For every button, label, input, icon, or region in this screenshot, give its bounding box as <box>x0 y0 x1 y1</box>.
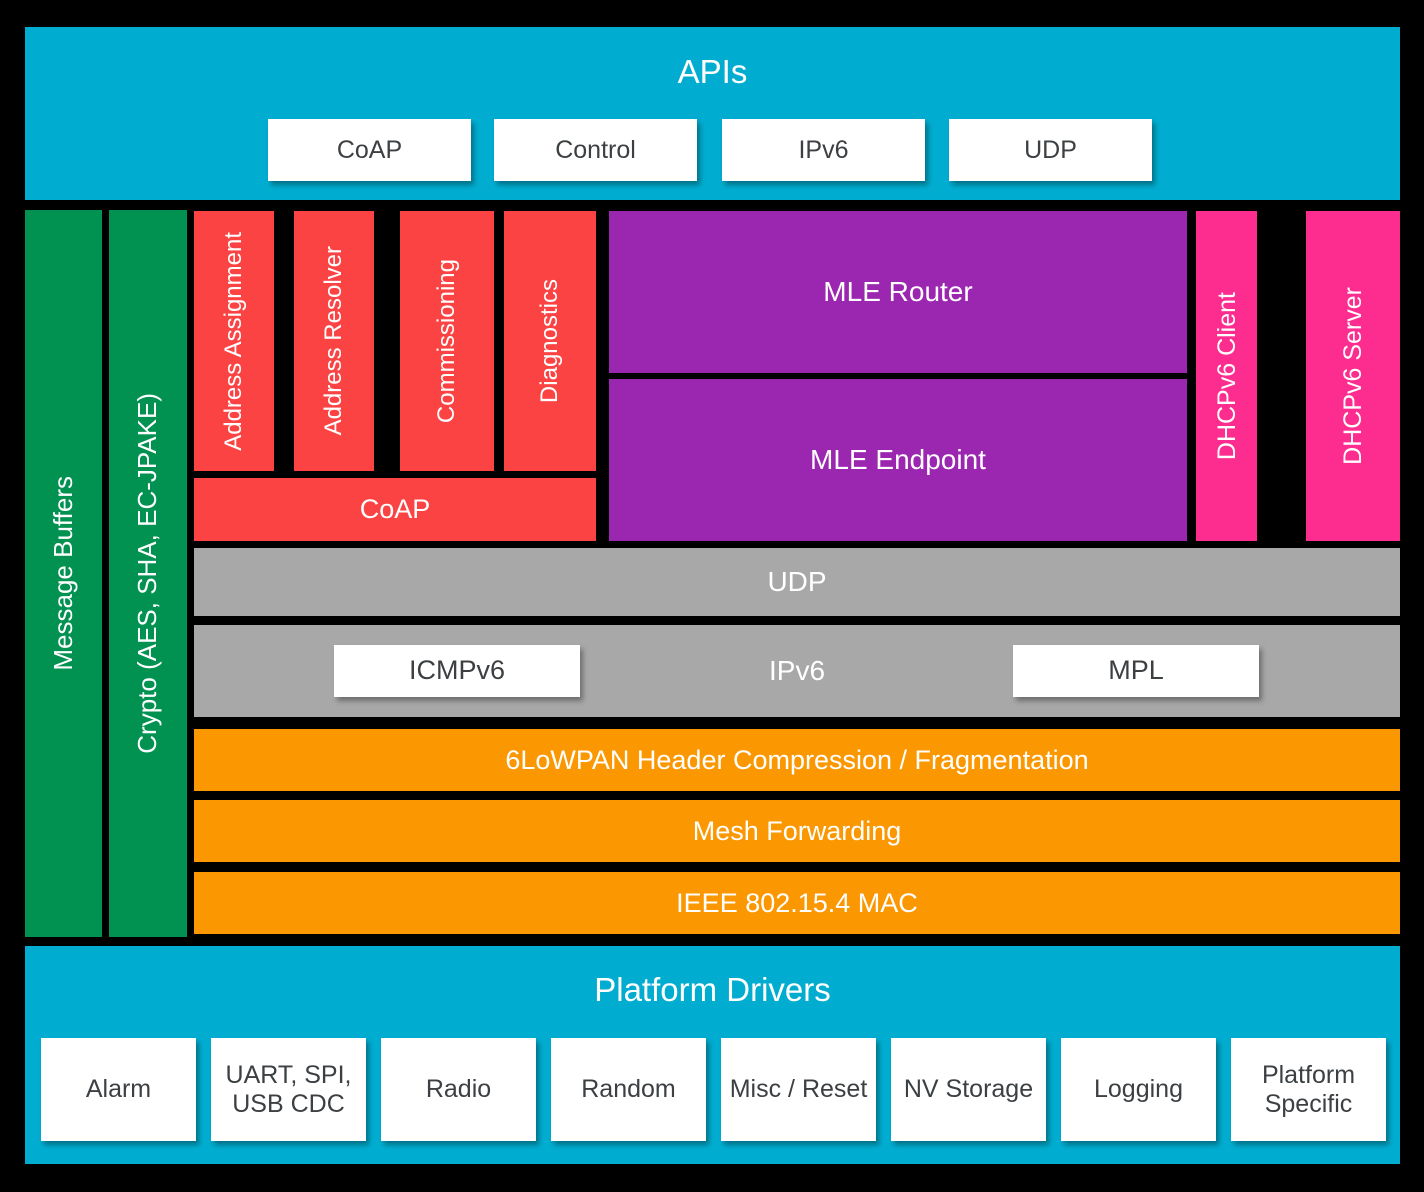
dhcpv6-client-label: DHCPv6 Client <box>1213 292 1241 460</box>
transport-udp: UDP <box>194 548 1400 616</box>
core-column-crypto: Crypto (AES, SHA, EC-JPAKE) <box>109 210 187 937</box>
service-address-assignment-label: Address Assignment <box>221 232 248 451</box>
service-diagnostics: Diagnostics <box>504 211 596 471</box>
core-column-crypto-label: Crypto (AES, SHA, EC-JPAKE) <box>133 393 162 754</box>
platform-chip-alarm[interactable]: Alarm <box>41 1038 196 1141</box>
service-commissioning-label: Commissioning <box>434 259 461 423</box>
mle-endpoint: MLE Endpoint <box>609 379 1187 541</box>
service-address-resolver-label: Address Resolver <box>321 246 348 435</box>
architecture-diagram: APIs CoAP Control IPv6 UDP Message Buffe… <box>0 0 1424 1192</box>
platform-drivers-title: Platform Drivers <box>25 968 1400 1012</box>
api-chip-ipv6[interactable]: IPv6 <box>722 119 925 181</box>
dhcpv6-client: DHCPv6 Client <box>1196 211 1257 541</box>
core-column-message-buffers: Message Buffers <box>25 210 102 937</box>
service-address-assignment: Address Assignment <box>194 211 274 471</box>
platform-chip-uart-spi-usb-cdc[interactable]: UART, SPI, USB CDC <box>211 1038 366 1141</box>
platform-chip-nv-storage[interactable]: NV Storage <box>891 1038 1046 1141</box>
platform-chip-random[interactable]: Random <box>551 1038 706 1141</box>
link-mesh-forwarding: Mesh Forwarding <box>194 800 1400 862</box>
dhcpv6-server: DHCPv6 Server <box>1306 211 1400 541</box>
dhcpv6-server-label: DHCPv6 Server <box>1339 287 1367 465</box>
core-column-message-buffers-label: Message Buffers <box>49 476 78 671</box>
platform-chip-misc-reset[interactable]: Misc / Reset <box>721 1038 876 1141</box>
network-chip-mpl[interactable]: MPL <box>1013 645 1259 697</box>
api-chip-coap[interactable]: CoAP <box>268 119 471 181</box>
service-diagnostics-label: Diagnostics <box>537 279 564 403</box>
platform-chip-radio[interactable]: Radio <box>381 1038 536 1141</box>
service-address-resolver: Address Resolver <box>294 211 374 471</box>
network-chip-icmpv6[interactable]: ICMPv6 <box>334 645 580 697</box>
service-coap: CoAP <box>194 478 596 541</box>
link-6lowpan: 6LoWPAN Header Compression / Fragmentati… <box>194 729 1400 791</box>
mle-router: MLE Router <box>609 211 1187 373</box>
link-ieee-802-15-4-mac: IEEE 802.15.4 MAC <box>194 872 1400 934</box>
platform-chip-logging[interactable]: Logging <box>1061 1038 1216 1141</box>
platform-chip-platform-specific[interactable]: Platform Specific <box>1231 1038 1386 1141</box>
apis-layer-title: APIs <box>25 50 1400 94</box>
api-chip-control[interactable]: Control <box>494 119 697 181</box>
service-commissioning: Commissioning <box>400 211 494 471</box>
api-chip-udp[interactable]: UDP <box>949 119 1152 181</box>
